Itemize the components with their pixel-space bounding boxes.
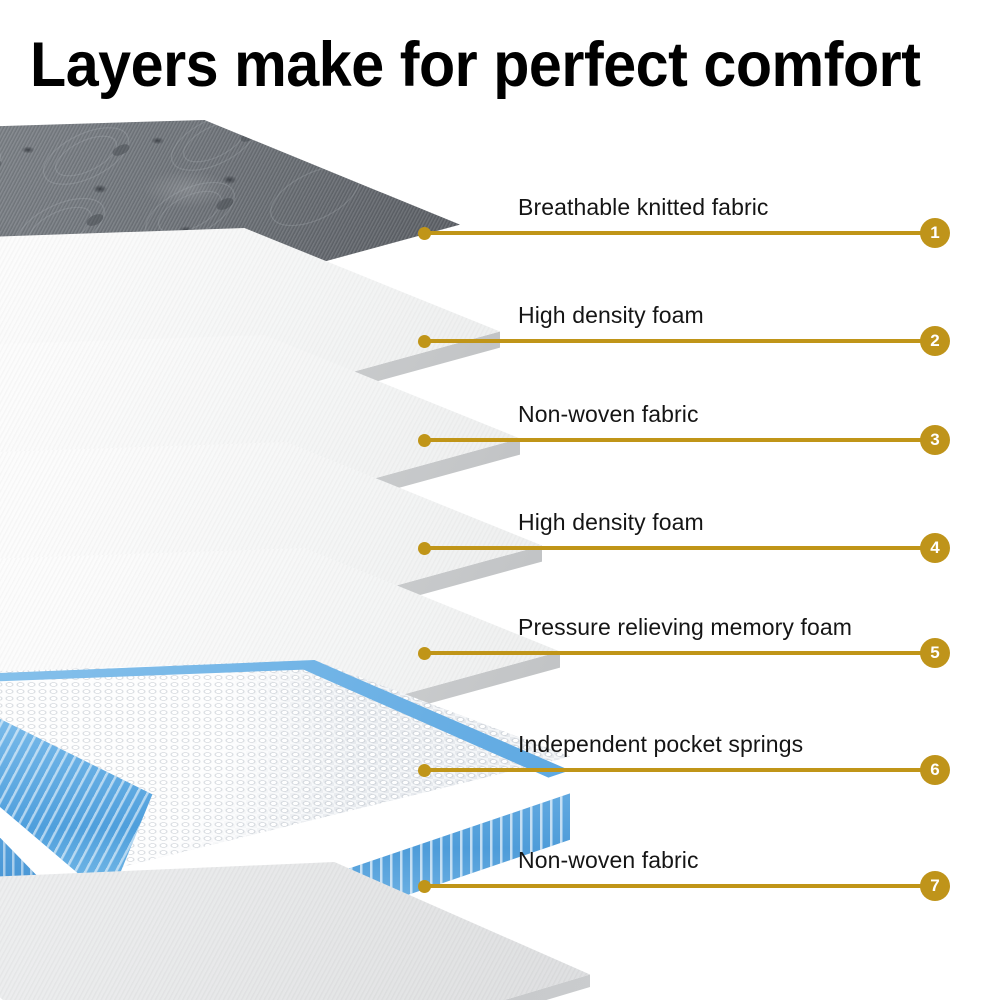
callout-7-leader-line	[424, 884, 932, 888]
callout-2-leader-line	[424, 339, 932, 343]
infographic-canvas: Layers make for perfect comfort	[0, 0, 1000, 1000]
callout-1-leader-line	[424, 231, 932, 235]
callout-3-badge: 3	[920, 425, 950, 455]
callout-5-label: Pressure relieving memory foam	[518, 614, 852, 641]
callout-7-badge: 7	[920, 871, 950, 901]
callout-4-badge: 4	[920, 533, 950, 563]
callout-1-label: Breathable knitted fabric	[518, 194, 769, 221]
callout-2-label: High density foam	[518, 302, 704, 329]
callout-6-leader-line	[424, 768, 932, 772]
callout-6-badge: 6	[920, 755, 950, 785]
page-title: Layers make for perfect comfort	[30, 32, 923, 98]
callout-3-label: Non-woven fabric	[518, 401, 699, 428]
callout-5-leader-line	[424, 651, 932, 655]
callout-4-leader-line	[424, 546, 932, 550]
callout-4-label: High density foam	[518, 509, 704, 536]
layer-graphic-non-woven-fabric-base	[0, 862, 590, 1000]
non-woven-surface	[0, 862, 590, 1000]
mattress-layer-illustration	[0, 120, 1000, 1000]
callout-6-label: Independent pocket springs	[518, 731, 803, 758]
callout-7-label: Non-woven fabric	[518, 847, 699, 874]
callout-3-leader-line	[424, 438, 932, 442]
callout-2-badge: 2	[920, 326, 950, 356]
callout-5-badge: 5	[920, 638, 950, 668]
callout-1-badge: 1	[920, 218, 950, 248]
